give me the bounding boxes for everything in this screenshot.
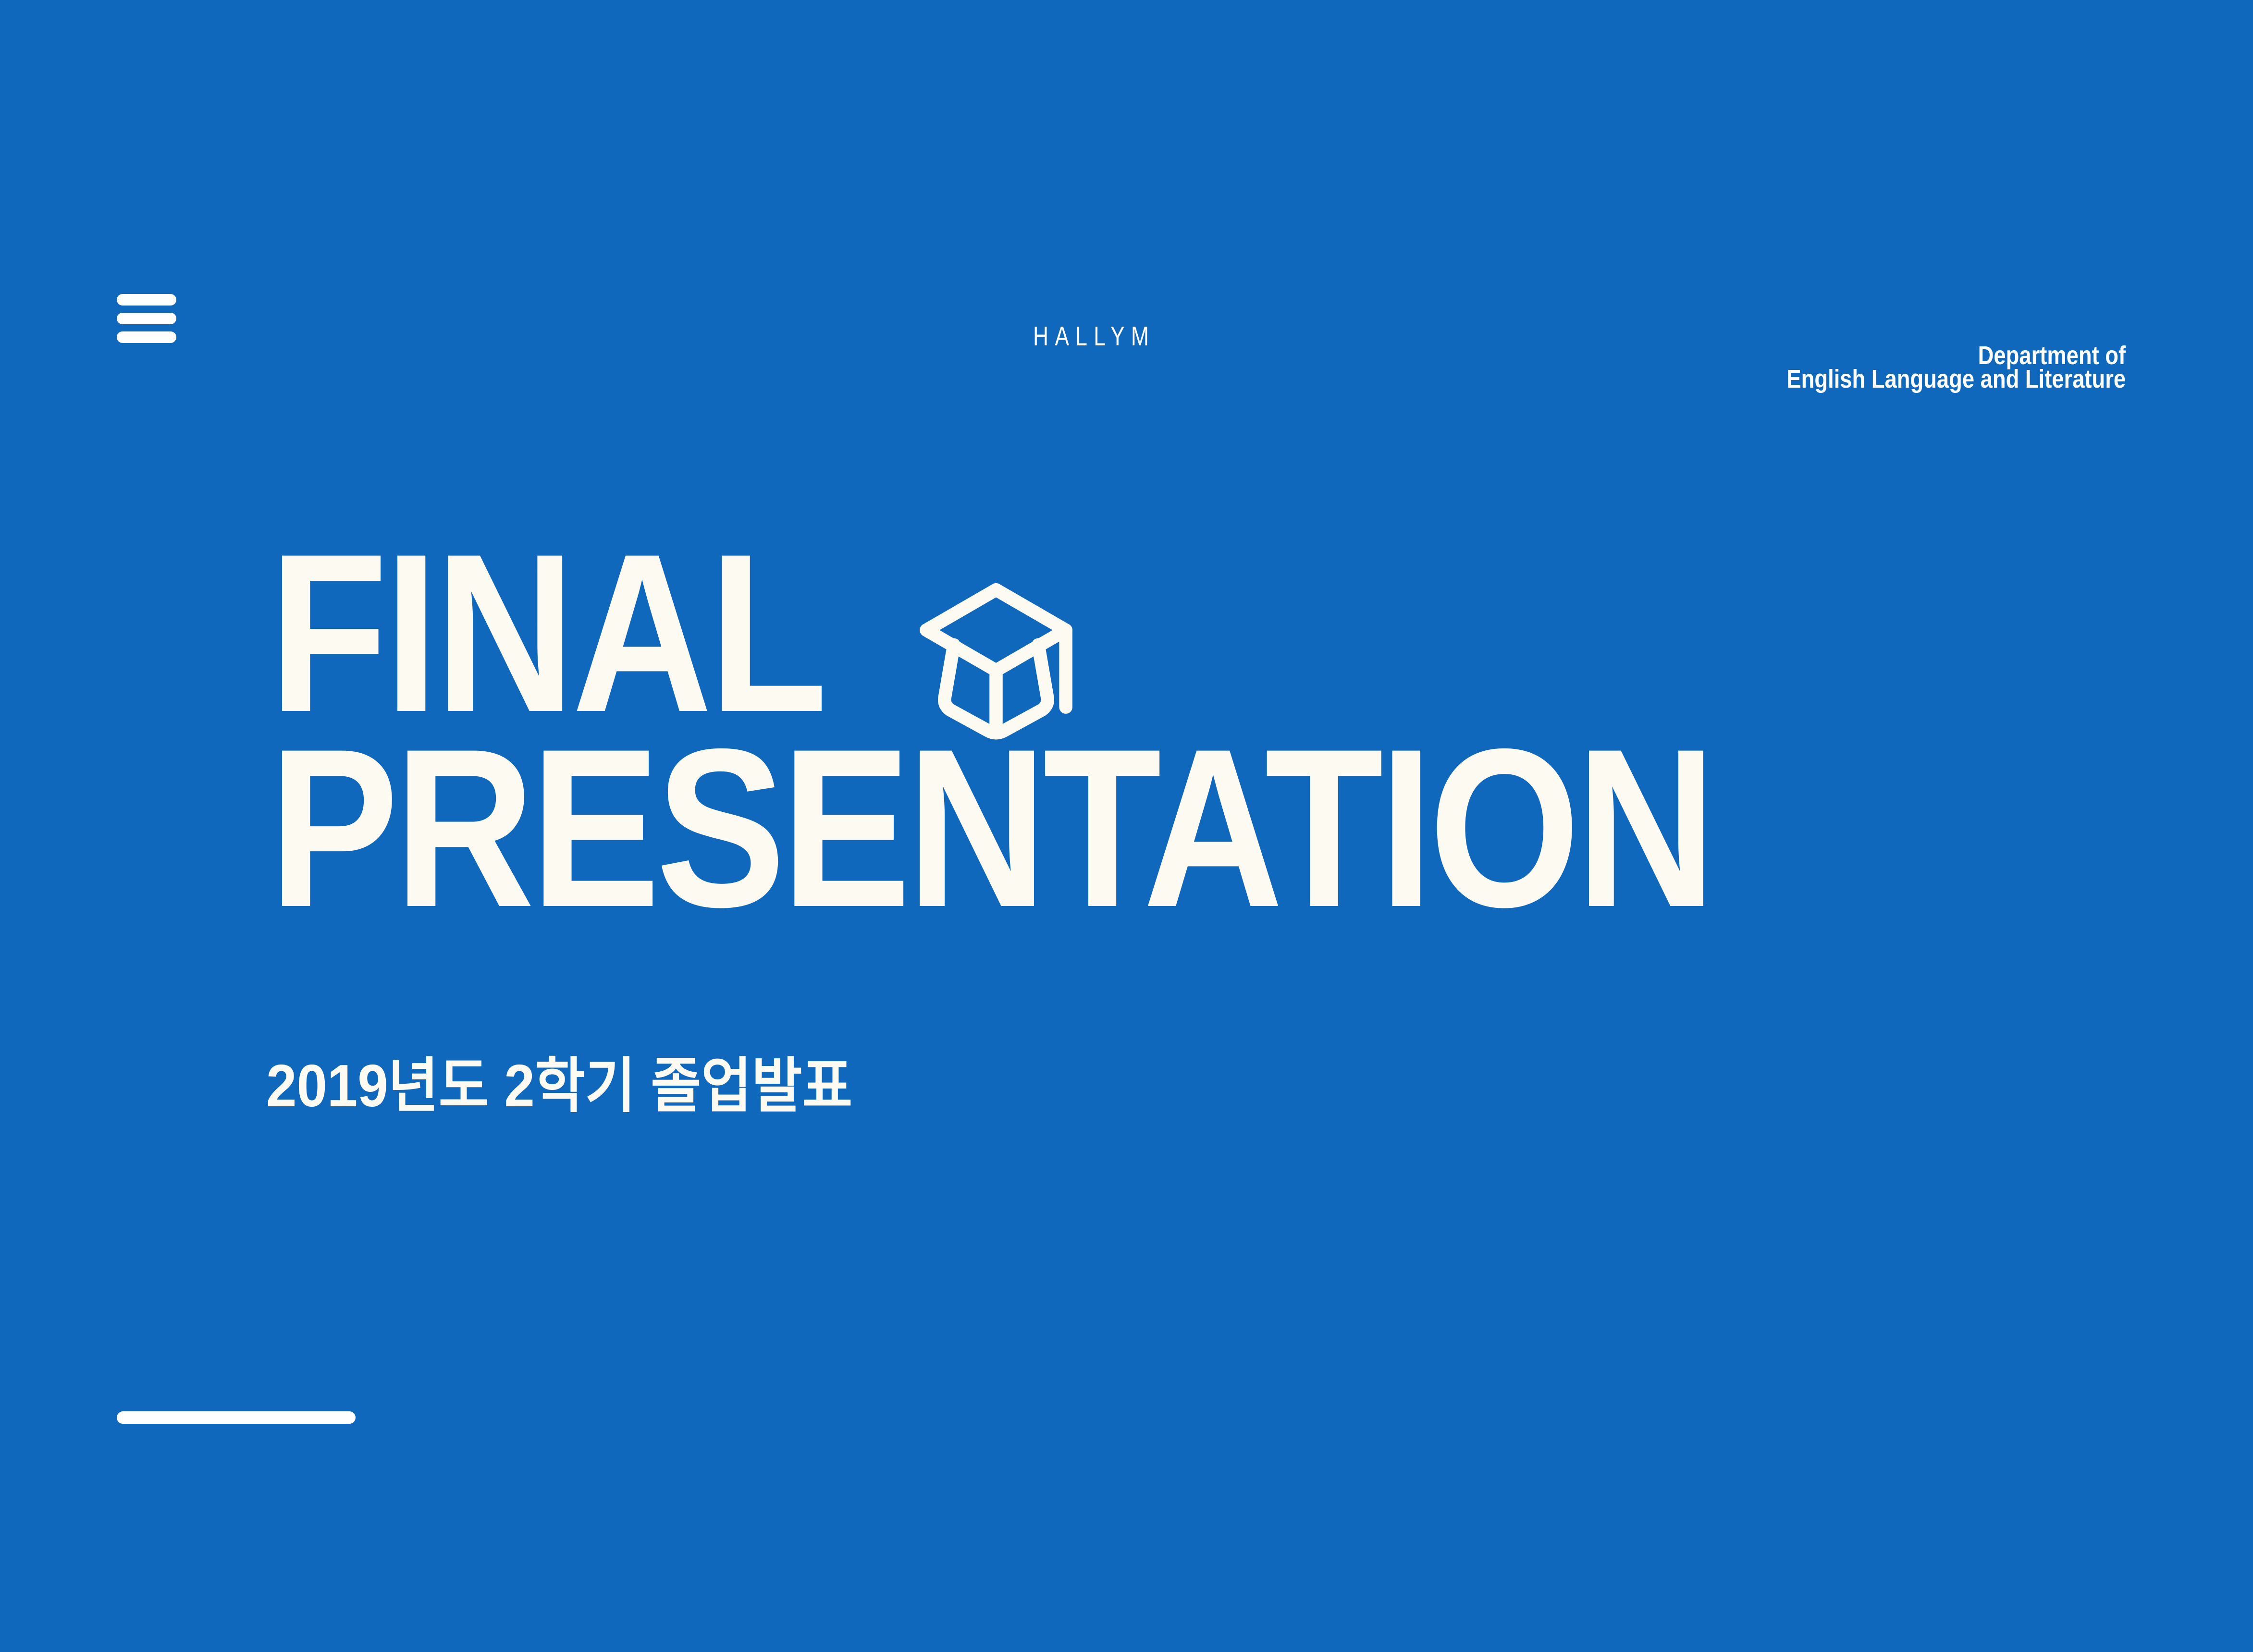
subtitle: 2019년도 2학기 졸업발표	[266, 1055, 852, 1117]
headline-word-final: FINAL	[269, 537, 825, 729]
page-title: FINAL PRESENTATIO	[269, 537, 2047, 924]
hamburger-bar-middle	[117, 313, 176, 324]
bottom-divider-rule	[117, 1411, 356, 1424]
hamburger-bar-top	[117, 294, 176, 306]
department-line-2: English Language and Literature	[1786, 367, 2126, 391]
brand-wordmark: HALLYM	[1033, 323, 1155, 350]
hamburger-menu-icon[interactable]	[117, 294, 176, 343]
department-block: Department of English Language and Liter…	[1786, 344, 2126, 391]
title-slide: HALLYM Department of English Language an…	[0, 0, 2253, 1652]
headline-row-final: FINAL	[269, 537, 2047, 729]
headline-word-presentation: PRESENTATION	[269, 732, 1712, 924]
hamburger-bar-bottom	[117, 331, 176, 343]
headline-row-presentation: PRESENTATION	[269, 732, 2047, 924]
department-line-1: Department of	[1786, 344, 2126, 367]
